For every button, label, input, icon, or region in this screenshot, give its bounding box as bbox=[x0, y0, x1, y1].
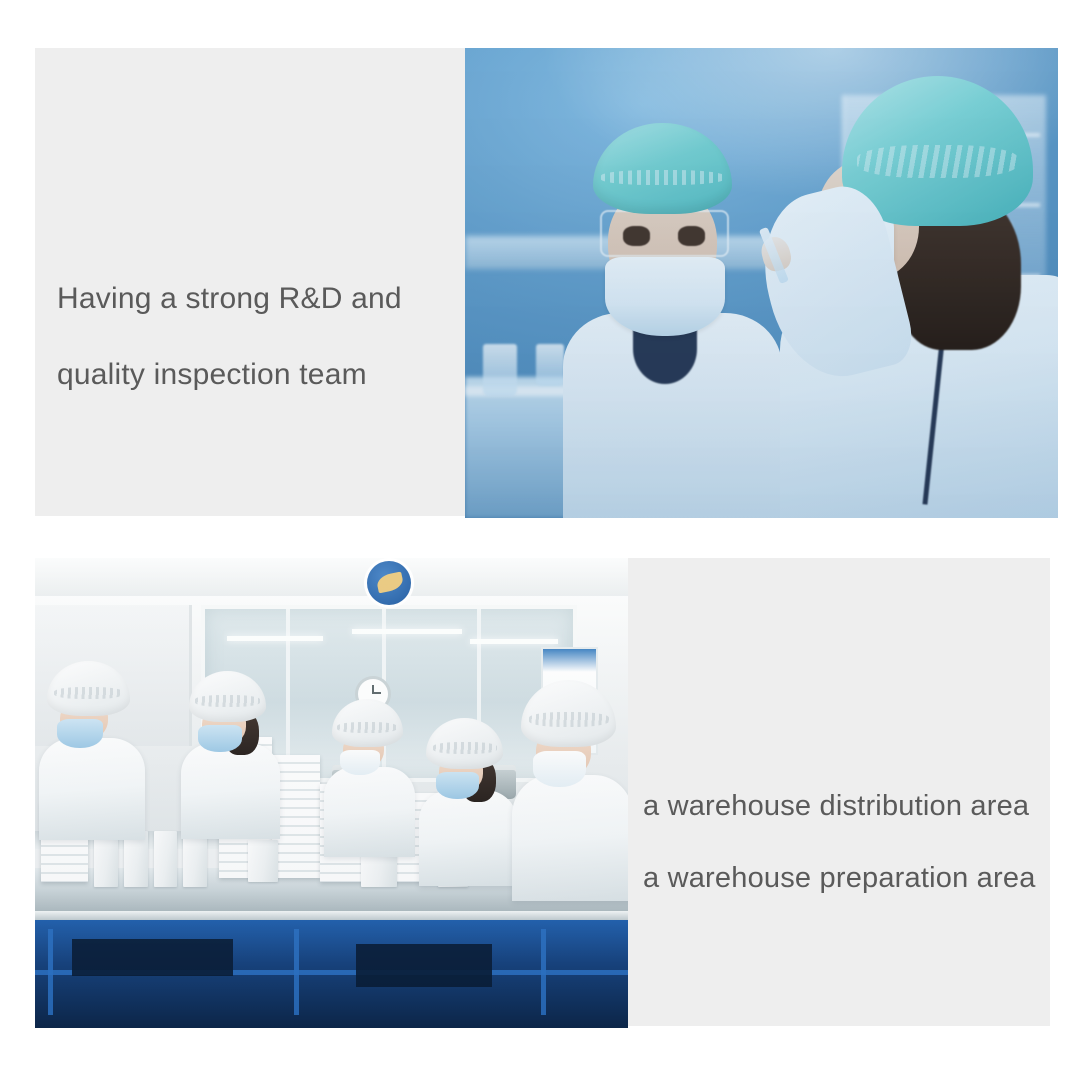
blue-color-tint bbox=[465, 48, 1058, 518]
caption-line: a warehouse preparation area bbox=[643, 860, 1063, 896]
caption-line: Having a strong R&D and bbox=[57, 280, 457, 318]
warehouse-packing-photo bbox=[35, 558, 628, 1028]
lab-scene-illustration bbox=[465, 48, 1058, 518]
lab-technicians-photo bbox=[465, 48, 1058, 518]
cleanroom-scene-illustration bbox=[35, 558, 628, 1028]
color-tint bbox=[35, 558, 628, 1028]
caption-line: quality inspection team bbox=[57, 356, 457, 394]
caption-line: a warehouse distribution area bbox=[643, 788, 1063, 824]
slide-canvas: Having a strong R&D and quality inspecti… bbox=[0, 0, 1080, 1080]
warehouse-caption: a warehouse distribution area a warehous… bbox=[643, 752, 1063, 932]
rnd-quality-caption: Having a strong R&D and quality inspecti… bbox=[57, 242, 457, 432]
